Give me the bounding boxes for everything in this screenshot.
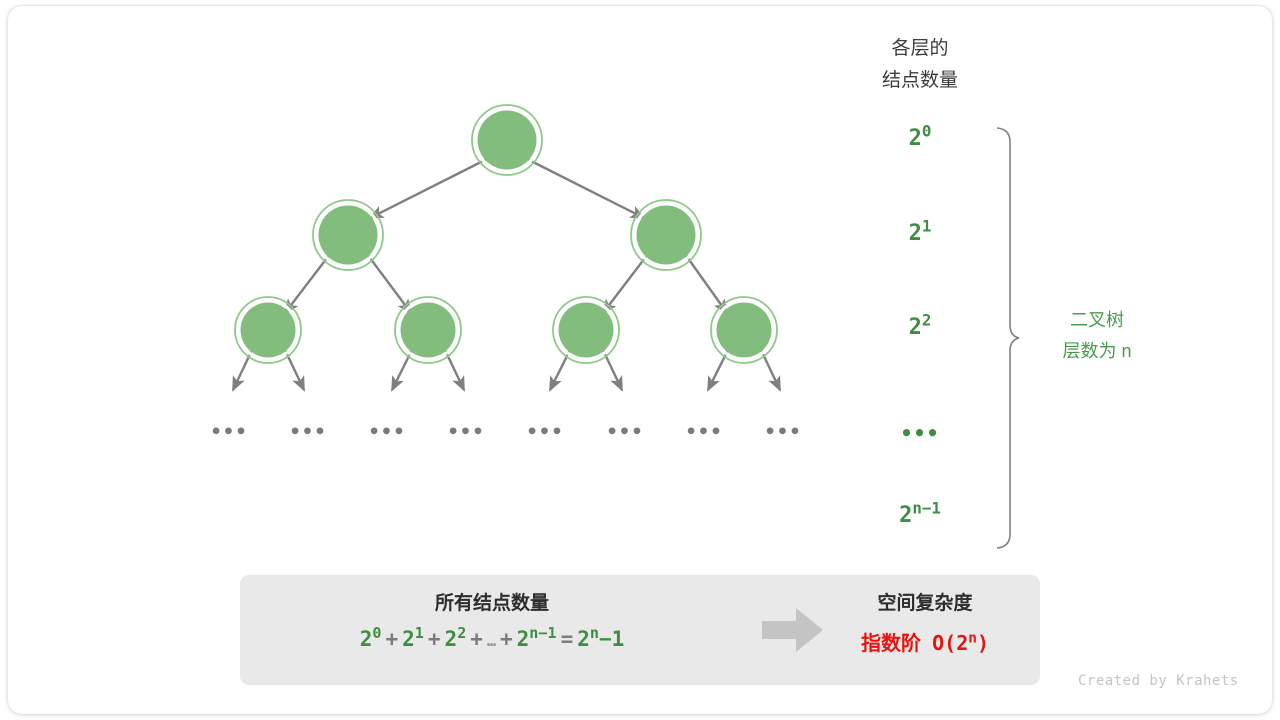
- credit-watermark: Created by Krahets: [1078, 673, 1239, 689]
- column-header-line2: 结点数量: [820, 65, 1020, 97]
- summary-right: 空间复杂度 指数阶 O(2n): [820, 589, 1030, 656]
- level-count-label-2: 22: [840, 315, 1000, 340]
- level-count-base-last: 2: [899, 503, 912, 528]
- leaf-ellipsis: •••: [446, 421, 486, 443]
- plus-1: +: [424, 627, 445, 651]
- leaf-ellipsis: •••: [288, 421, 328, 443]
- result-suffix: −1: [599, 627, 624, 651]
- plus-3: +: [496, 627, 517, 651]
- leaf-ellipsis: •••: [209, 421, 249, 443]
- last-term-base: 2: [517, 627, 530, 651]
- leaf-ellipsis: •••: [605, 421, 645, 443]
- plus-2: +: [466, 627, 487, 651]
- total-nodes-title: 所有结点数量: [252, 589, 732, 619]
- complexity-notation-exp: n: [968, 630, 977, 646]
- level-count-label-ellipsis: •••: [840, 421, 1000, 445]
- brace-label-line2: 层数为 n: [1022, 336, 1172, 367]
- formula-ellipsis: …: [487, 632, 496, 650]
- equals-sign: =: [557, 627, 578, 651]
- column-header-line1: 各层的: [820, 33, 1020, 65]
- leaf-ellipsis: •••: [763, 421, 803, 443]
- level-count-exp-0: 0: [922, 122, 932, 141]
- level-count-label-0: 20: [840, 126, 1000, 151]
- figure-canvas: ••• ••• ••• ••• ••• ••• ••• ••• 各层的 结点数量…: [0, 0, 1280, 720]
- leaf-ellipsis: •••: [367, 421, 407, 443]
- result-base: 2: [577, 627, 590, 651]
- brace-label: 二叉树 层数为 n: [1022, 305, 1172, 367]
- term-2-base: 2: [445, 627, 458, 651]
- term-0-base: 2: [360, 627, 373, 651]
- level-count-label-1: 21: [840, 221, 1000, 246]
- summary-box: 所有结点数量 20+21+22+…+2n−1=2n−1 空间复杂度 指数阶 O(…: [240, 575, 1040, 685]
- level-count-exp-last: n−1: [912, 499, 941, 518]
- term-1-base: 2: [402, 627, 415, 651]
- leaf-ellipsis: •••: [684, 421, 724, 443]
- brace-label-line1: 二叉树: [1022, 305, 1172, 336]
- level-count-base-1: 2: [909, 221, 922, 246]
- term-1-exp: 1: [415, 624, 424, 642]
- space-complexity-value: 指数阶 O(2n): [820, 627, 1030, 656]
- plus-0: +: [381, 627, 402, 651]
- total-nodes-formula: 20+21+22+…+2n−1=2n−1: [252, 627, 732, 651]
- level-count-base-0: 2: [909, 126, 922, 151]
- result-exp: n: [590, 624, 599, 642]
- level-count-label-last: 2n−1: [840, 503, 1000, 528]
- level-count-base-2: 2: [909, 315, 922, 340]
- level-count-exp-1: 1: [922, 217, 932, 236]
- term-2-exp: 2: [457, 624, 466, 642]
- last-term-exp: n−1: [529, 624, 556, 642]
- complexity-notation-prefix: O(2: [932, 631, 968, 655]
- summary-left: 所有结点数量 20+21+22+…+2n−1=2n−1: [252, 589, 732, 651]
- space-complexity-title: 空间复杂度: [820, 589, 1030, 619]
- leaf-ellipsis: •••: [525, 421, 565, 443]
- complexity-order-label: 指数阶: [861, 633, 921, 655]
- complexity-notation-suffix: ): [977, 631, 989, 655]
- column-header: 各层的 结点数量: [820, 33, 1020, 97]
- level-count-exp-2: 2: [922, 311, 932, 330]
